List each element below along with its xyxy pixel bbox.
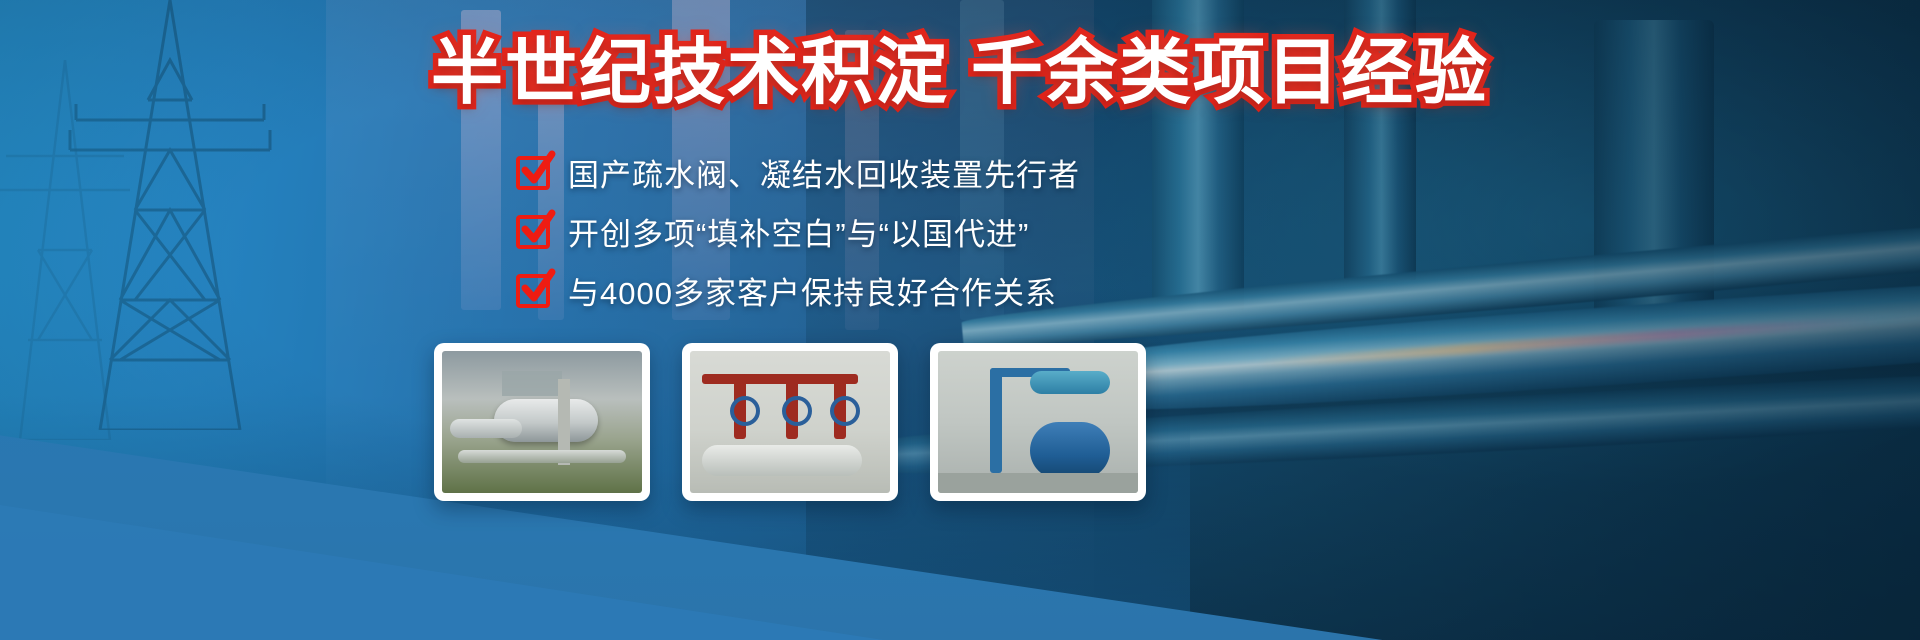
promo-banner: 半世纪技术积淀 千余类项目经验 国产疏水阀、凝结水回收装置先行者 开创多项“填补… [0, 0, 1920, 640]
checkbox-checked-icon [516, 156, 550, 190]
photo-card-list [434, 343, 1146, 501]
equipment-photo [442, 351, 642, 493]
checkbox-checked-icon [516, 215, 550, 249]
list-item: 国产疏水阀、凝结水回收装置先行者 [516, 150, 1080, 195]
feature-list: 国产疏水阀、凝结水回收装置先行者 开创多项“填补空白”与“以国代进” 与4000… [516, 150, 1080, 313]
checkbox-checked-icon [516, 274, 550, 308]
list-item-label: 开创多项“填补空白”与“以国代进” [568, 209, 1029, 254]
photo-card-1[interactable] [434, 343, 650, 501]
list-item: 与4000多家客户保持良好合作关系 [516, 268, 1080, 313]
list-item-label: 国产疏水阀、凝结水回收装置先行者 [568, 150, 1080, 195]
list-item: 开创多项“填补空白”与“以国代进” [516, 209, 1080, 254]
equipment-photo [690, 351, 890, 493]
list-item-label: 与4000多家客户保持良好合作关系 [568, 268, 1057, 313]
banner-content: 半世纪技术积淀 千余类项目经验 国产疏水阀、凝结水回收装置先行者 开创多项“填补… [0, 0, 1920, 640]
photo-card-2[interactable] [682, 343, 898, 501]
banner-headline: 半世纪技术积淀 千余类项目经验 [0, 36, 1920, 112]
photo-card-3[interactable] [930, 343, 1146, 501]
equipment-photo [938, 351, 1138, 493]
